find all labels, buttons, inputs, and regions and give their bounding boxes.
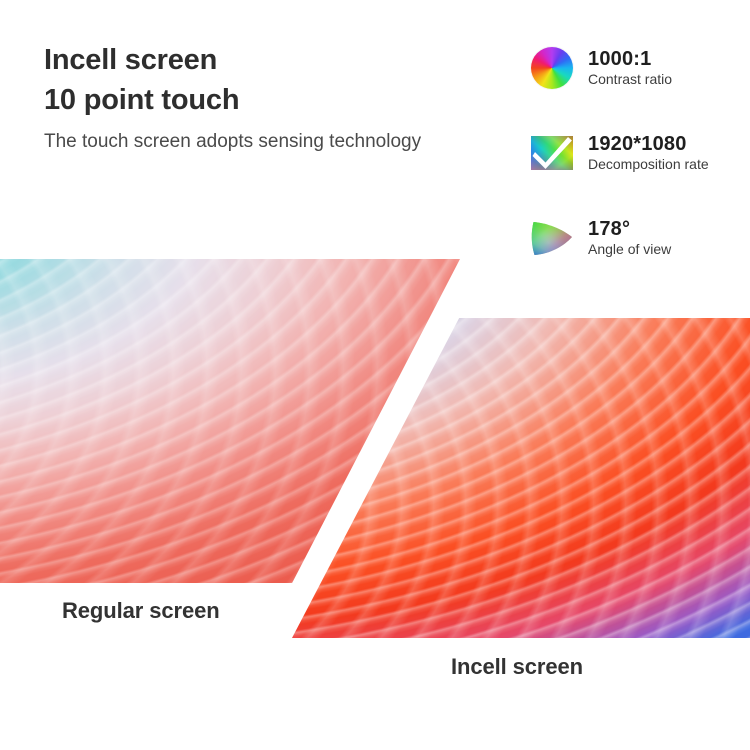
spec-value-angle-of-view: 178° <box>588 219 671 240</box>
headline-line-2: 10 point touch <box>44 80 514 120</box>
regular-screen-caption: Regular screen <box>62 598 220 624</box>
spec-label-angle-of-view: Angle of view <box>588 242 671 257</box>
spec-list: 1000:1 Contrast ratio <box>528 38 750 293</box>
headline-line-1: Incell screen <box>44 40 514 80</box>
spec-label-decomposition-rate: Decomposition rate <box>588 157 709 172</box>
spec-value-decomposition-rate: 1920*1080 <box>588 134 709 155</box>
promo-page: Incell screen 10 point touch The touch s… <box>0 0 750 750</box>
viewing-angle-fan-icon <box>528 214 576 262</box>
spec-item-angle-of-view: 178° Angle of view <box>528 208 750 268</box>
spec-label-contrast-ratio: Contrast ratio <box>588 72 672 87</box>
incell-screen-caption: Incell screen <box>451 654 583 680</box>
spec-value-contrast-ratio: 1000:1 <box>588 49 672 70</box>
page-title: Incell screen 10 point touch The touch s… <box>44 40 514 156</box>
spec-item-contrast-ratio: 1000:1 Contrast ratio <box>528 38 750 98</box>
viewing-angle-fan-icon-svg <box>530 218 574 258</box>
rainbow-check-icon-svg <box>530 135 574 171</box>
headline-subtitle: The touch screen adopts sensing technolo… <box>44 128 514 156</box>
spec-item-decomposition-rate: 1920*1080 Decomposition rate <box>528 123 750 183</box>
color-wheel-icon <box>528 44 576 92</box>
rainbow-check-icon <box>528 129 576 177</box>
